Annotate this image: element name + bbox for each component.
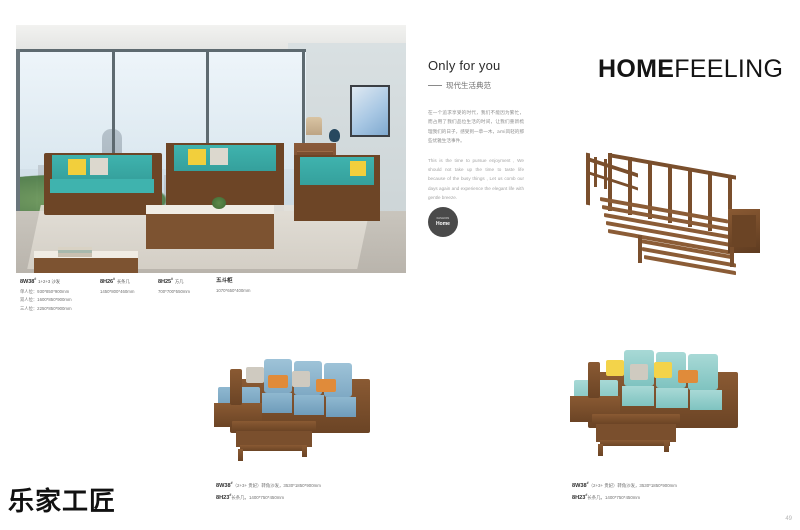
spec-name: 长条几 xyxy=(117,279,130,284)
sofa-frame-product-photo xyxy=(580,135,790,270)
patterned-pillow xyxy=(90,158,108,175)
caption-code: 8H23# xyxy=(572,495,587,501)
spec-column: 8W38#1+2+3 沙发 单人位：930*850*900mm 双人位：1600… xyxy=(20,276,100,313)
coffee-table xyxy=(146,205,274,249)
sectional-right-photo xyxy=(568,340,753,470)
copy-subheading: 现代生活典范 xyxy=(446,80,491,91)
fashion-home-badge: FASHION Home xyxy=(428,207,458,237)
spec-line: 1450*800*460mm xyxy=(100,288,158,296)
copy-subheading-row: 现代生活典范 xyxy=(428,80,524,91)
spec-name: 五斗柜 xyxy=(216,278,232,284)
yellow-pillow xyxy=(68,159,86,175)
table-lamp xyxy=(306,117,322,135)
page-title: HOMEFEELING xyxy=(598,55,783,84)
copy-heading: Only for you xyxy=(428,58,524,73)
spec-column: 五斗柜 1070*650*400mm xyxy=(216,276,276,313)
caption-text: 长条几，1400*750*450mm xyxy=(231,495,284,500)
catalog-page: Only for you 现代生活典范 在一个追求享受的时代，我们不能因为繁忙，… xyxy=(0,0,800,530)
decor-vase xyxy=(329,129,340,142)
badge-line-2: Home xyxy=(436,221,450,227)
yellow-pillow xyxy=(188,149,206,165)
spec-line: 1070*650*400mm xyxy=(216,287,276,295)
spec-column: 8H25#方几 700*700*550mm xyxy=(158,276,216,313)
patterned-pillow xyxy=(210,148,228,165)
caption-text: （2+3+ 贵妃）转角沙发，3530*1850*900mm xyxy=(589,483,677,488)
spec-heading: 8H26#长条几 xyxy=(100,276,158,288)
page-title-light: FEELING xyxy=(674,55,783,83)
sectional-left-photo xyxy=(212,345,397,475)
spec-code: 8H25# xyxy=(158,279,173,285)
sofa-seat-cushion xyxy=(50,179,154,193)
potted-plant xyxy=(212,197,226,209)
spec-code: 8W38# xyxy=(20,279,36,285)
hero-interior-photo xyxy=(16,25,406,273)
spec-heading: 8W38#1+2+3 沙发 xyxy=(20,276,100,288)
caption-line: 8W38#（2+3+ 贵妃）转角沙发，3530*1850*900mm xyxy=(572,480,677,492)
badge-line-1: FASHION xyxy=(437,217,450,220)
page-number: 49 xyxy=(785,516,792,522)
caption-line: 8W38#（2+3+ 贵妃）转角沙发，3530*1850*900mm xyxy=(216,480,321,492)
caption-code: 8W38# xyxy=(572,483,589,489)
window-frame-top xyxy=(16,49,306,52)
sectional-left-caption: 8W38#（2+3+ 贵妃）转角沙发，3530*1850*900mm 8H23#… xyxy=(216,480,321,504)
copy-body-english: This is the time to pursue enjoyment , W… xyxy=(428,156,524,203)
brand-logo: 乐家工匠 xyxy=(8,481,116,518)
spec-name: 1+2+3 沙发 xyxy=(38,279,60,284)
spec-heading: 五斗柜 xyxy=(216,276,276,287)
main-spec-list: 8W38#1+2+3 沙发 单人位：930*850*900mm 双人位：1600… xyxy=(20,276,276,313)
caption-code: 8W38# xyxy=(216,483,233,489)
stacked-books xyxy=(58,247,92,257)
page-title-bold: HOME xyxy=(598,55,674,83)
caption-line: 8H23#长条几，1400*750*450mm xyxy=(572,492,677,504)
spec-line: 单人位：930*850*900mm xyxy=(20,288,100,296)
copy-body-chinese: 在一个追求享受的时代，我们不能因为繁忙，而占用了我们品位生活的时间，让我们重新梳… xyxy=(428,109,524,147)
editorial-copy: Only for you 现代生活典范 在一个追求享受的时代，我们不能因为繁忙，… xyxy=(428,58,524,203)
spec-heading: 8H25#方几 xyxy=(158,276,216,288)
caption-code: 8H23# xyxy=(216,495,231,501)
caption-line: 8H23#长条几，1400*750*450mm xyxy=(216,492,321,504)
wall-art xyxy=(350,85,390,137)
spec-column: 8H26#长条几 1450*800*460mm xyxy=(100,276,158,313)
spec-code: 8H26# xyxy=(100,279,115,285)
caption-text: （2+3+ 贵妃）转角沙发，3530*1850*900mm xyxy=(233,483,321,488)
sectional-right-caption: 8W38#（2+3+ 贵妃）转角沙发，3530*1850*900mm 8H23#… xyxy=(572,480,677,504)
spec-line: 双人位：1600*850*900mm xyxy=(20,296,100,304)
spec-name: 方几 xyxy=(175,279,184,284)
spec-line: 三人位：2250*850*900mm xyxy=(20,305,100,313)
caption-text: 长条几，1400*750*450mm xyxy=(587,495,640,500)
yellow-pillow xyxy=(350,161,366,176)
dash-rule xyxy=(428,85,442,86)
spec-line: 700*700*550mm xyxy=(158,288,216,296)
